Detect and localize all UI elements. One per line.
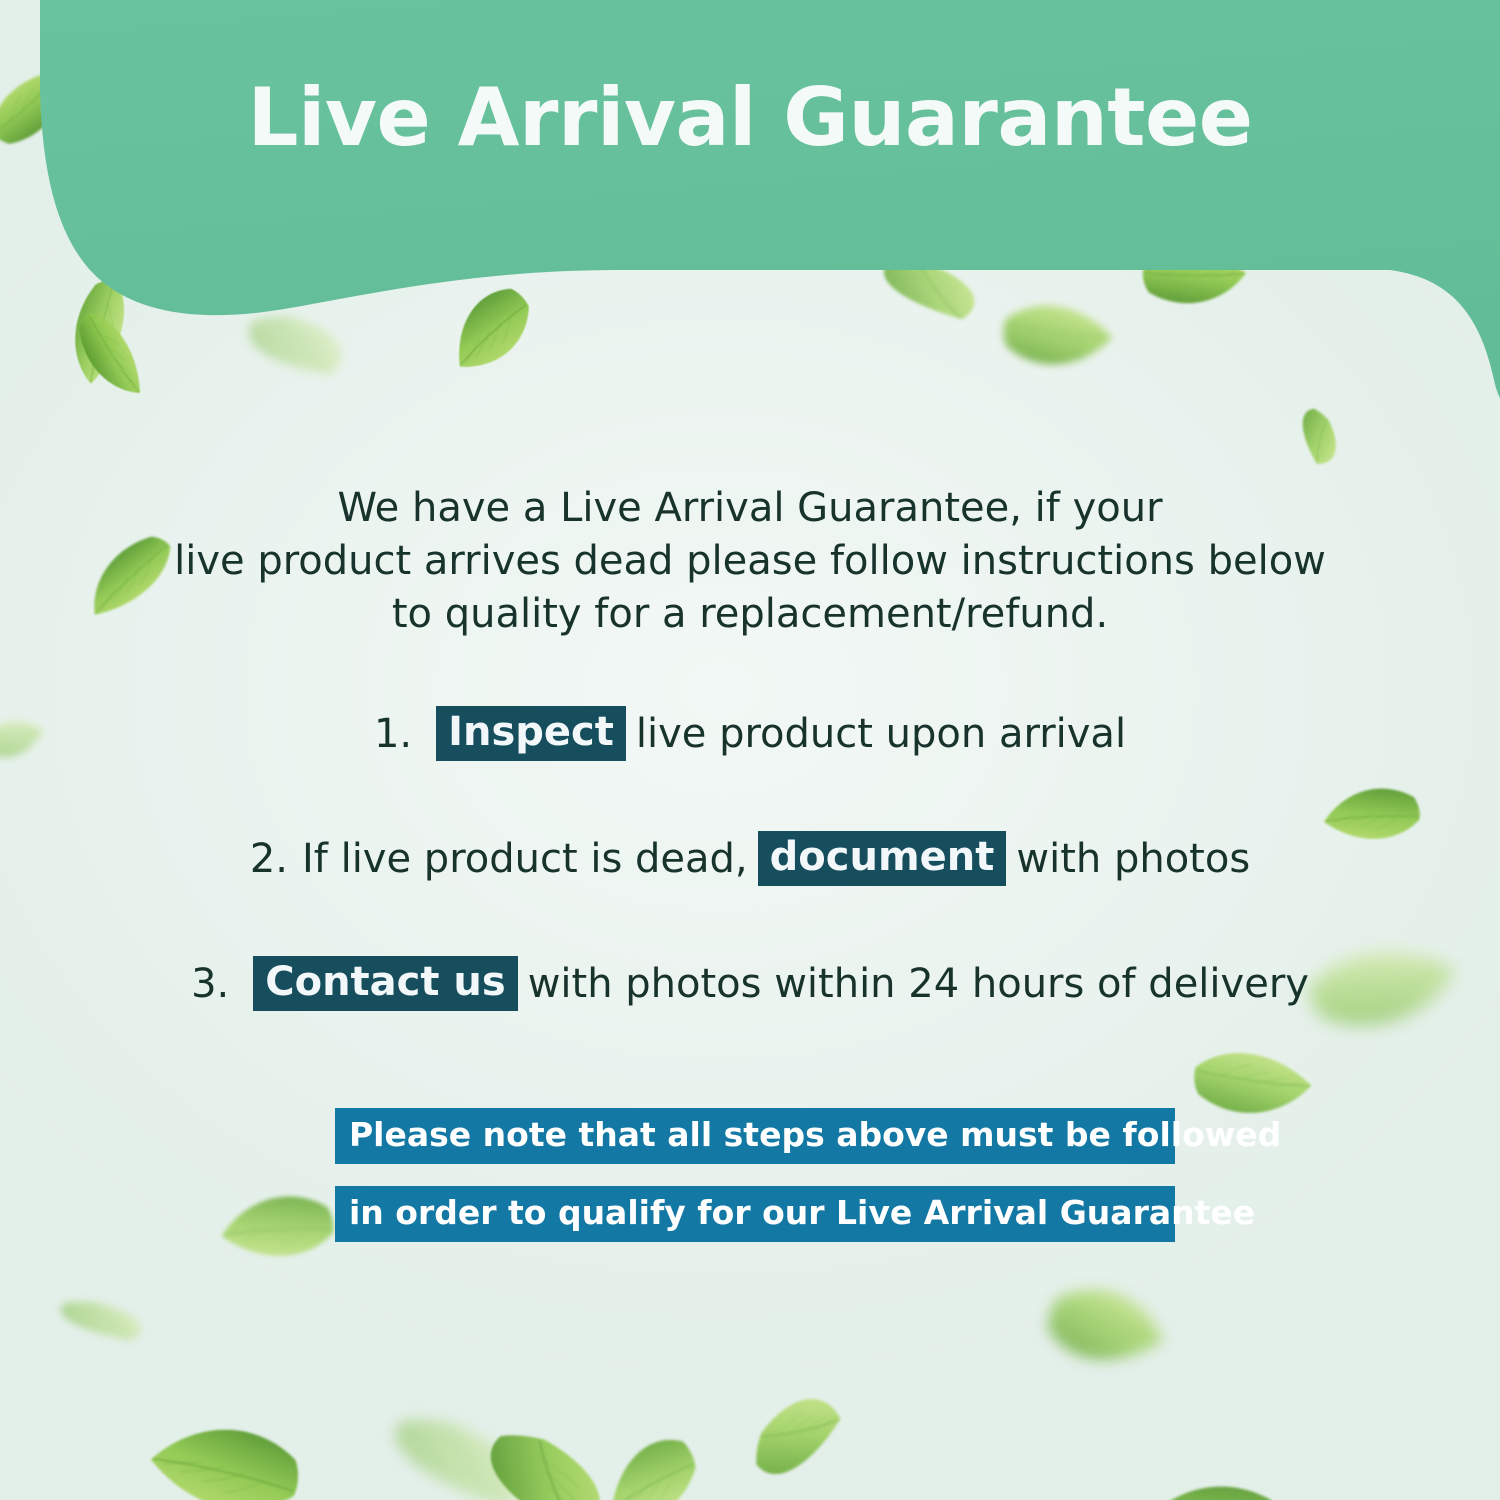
step-highlight-1: Inspect bbox=[436, 706, 626, 761]
note-banner-1: Please note that all steps above must be… bbox=[335, 1108, 1175, 1164]
step-after-3: with photos within 24 hours of delivery bbox=[528, 961, 1309, 1007]
step-item-3: 3. Contact us with photos within 24 hour… bbox=[0, 956, 1500, 1011]
step-number-3: 3. bbox=[191, 961, 229, 1007]
step-highlight-2: document bbox=[758, 831, 1007, 886]
step-number-1: 1. bbox=[374, 711, 412, 757]
step-after-1: live product upon arrival bbox=[636, 711, 1126, 757]
step-item-1: 1. Inspect live product upon arrival bbox=[0, 706, 1500, 761]
intro-line-3: to quality for a replacement/refund. bbox=[150, 588, 1350, 641]
note-banner-2: in order to qualify for our Live Arrival… bbox=[335, 1186, 1175, 1242]
intro-line-2: live product arrives dead please follow … bbox=[150, 535, 1350, 588]
step-number-2: 2. bbox=[250, 836, 288, 882]
step-item-2: 2. If live product is dead, document wit… bbox=[0, 831, 1500, 886]
note-banners: Please note that all steps above must be… bbox=[335, 1108, 1175, 1242]
step-after-2: with photos bbox=[1016, 836, 1250, 882]
intro-paragraph: We have a Live Arrival Guarantee, if you… bbox=[150, 482, 1350, 640]
steps-list: 1. Inspect live product upon arrival 2. … bbox=[0, 706, 1500, 1011]
live-arrival-guarantee-poster: Live Arrival Guarantee We have a Live Ar… bbox=[0, 0, 1500, 1500]
intro-line-1: We have a Live Arrival Guarantee, if you… bbox=[150, 482, 1350, 535]
step-highlight-3: Contact us bbox=[253, 956, 517, 1011]
step-before-2: If live product is dead, bbox=[302, 836, 748, 882]
poster-content: We have a Live Arrival Guarantee, if you… bbox=[0, 0, 1500, 1500]
